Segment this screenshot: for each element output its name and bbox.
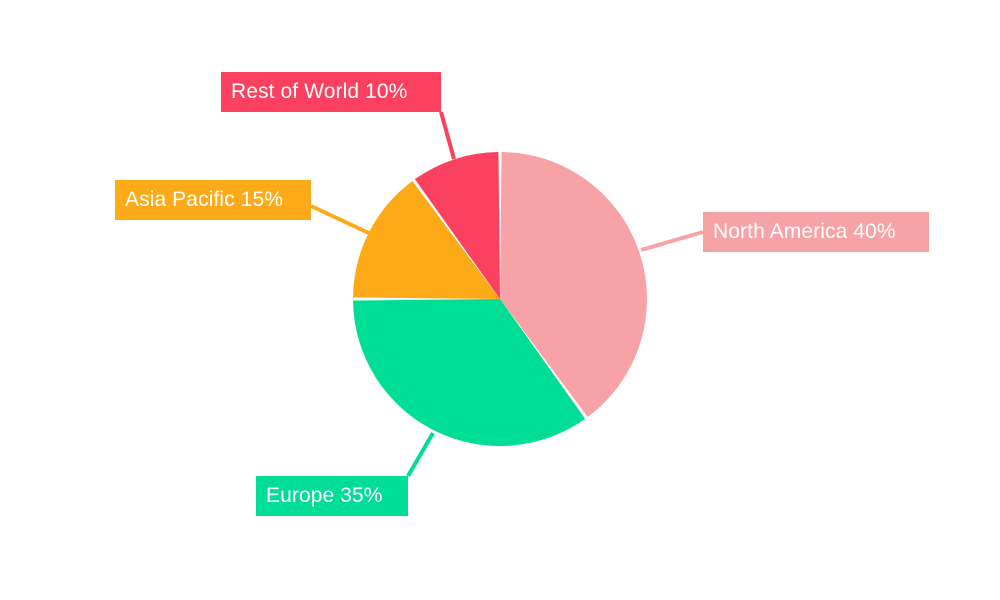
pie-label-europe[interactable]: Europe 35%	[256, 476, 408, 516]
leader-line-europe	[408, 433, 433, 476]
pie-label-asia-pacific-text: Asia Pacific 15%	[125, 180, 283, 220]
pie-label-rest-of-world-text: Rest of World 10%	[231, 72, 407, 112]
pie-chart-figure: North America 40% Europe 35% Asia Pacifi…	[0, 0, 1000, 600]
pie-label-north-america-text: North America 40%	[713, 212, 896, 252]
leader-line-north-america	[641, 232, 703, 250]
pie-chart-canvas	[0, 0, 1000, 600]
leader-line-asia-pacific	[311, 206, 371, 234]
pie-label-rest-of-world[interactable]: Rest of World 10%	[221, 72, 441, 112]
pie-slices-group	[353, 152, 647, 446]
pie-label-north-america[interactable]: North America 40%	[703, 212, 929, 252]
leader-line-rest-of-world	[441, 112, 454, 159]
pie-label-asia-pacific[interactable]: Asia Pacific 15%	[115, 180, 311, 220]
pie-label-europe-text: Europe 35%	[266, 476, 383, 516]
